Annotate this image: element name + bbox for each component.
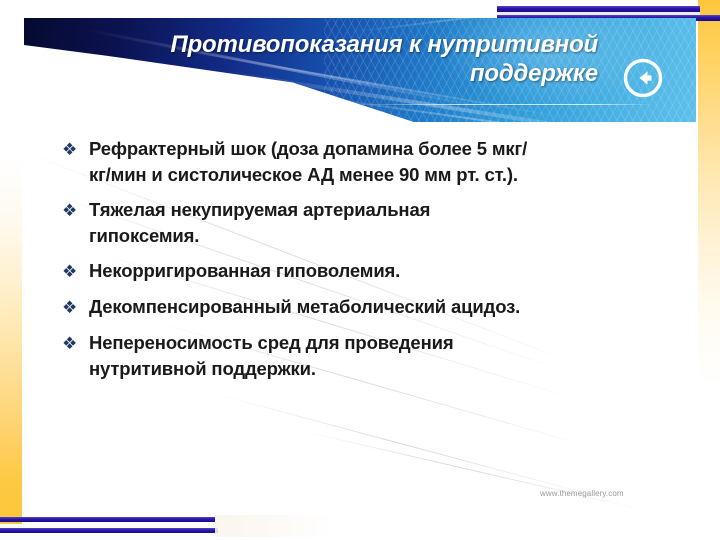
bottom-blue-bar-upper [0,517,215,522]
presentation-slide: Противопоказания к нутритивной поддержке… [0,0,720,540]
diamond-bullet-icon: ❖ [62,258,89,285]
diamond-bullet-icon: ❖ [62,197,89,224]
bullet-list: ❖ Рефрактерный шок (доза допамина более … [62,136,662,391]
title-underline [354,104,654,105]
left-accent-strip [0,0,22,524]
watermark-url: www.themegallery.com [540,489,624,498]
diamond-bullet-icon: ❖ [62,136,89,163]
list-item: ❖ Декомпенсированный метаболический ацид… [62,294,662,321]
list-item: ❖ Рефрактерный шок (доза допамина более … [62,136,662,188]
list-item: ❖ Тяжелая некупируемая артериальная гипо… [62,197,662,249]
list-item-text: Тяжелая некупируемая артериальная гипокс… [89,197,539,249]
page-title: Противопоказания к нутритивной поддержке [110,30,598,88]
top-blue-bar-upper [497,6,700,12]
list-item: ❖ Некорригированная гиповолемия. [62,258,662,285]
diamond-bullet-icon: ❖ [62,294,89,321]
diamond-bullet-icon: ❖ [62,330,89,357]
list-item-text: Непереносимость сред для проведения нутр… [89,330,539,382]
bottom-bar-fade [215,515,335,537]
list-item-text: Декомпенсированный метаболический ацидоз… [89,294,539,320]
back-arrow-icon[interactable] [621,56,665,100]
list-item: ❖ Непереносимость сред для проведения ну… [62,330,662,382]
list-item-text: Некорригированная гиповолемия. [89,258,539,284]
right-accent-strip [698,0,720,540]
list-item-text: Рефрактерный шок (доза допамина более 5 … [89,136,539,188]
bottom-blue-bar-lower [0,528,218,533]
